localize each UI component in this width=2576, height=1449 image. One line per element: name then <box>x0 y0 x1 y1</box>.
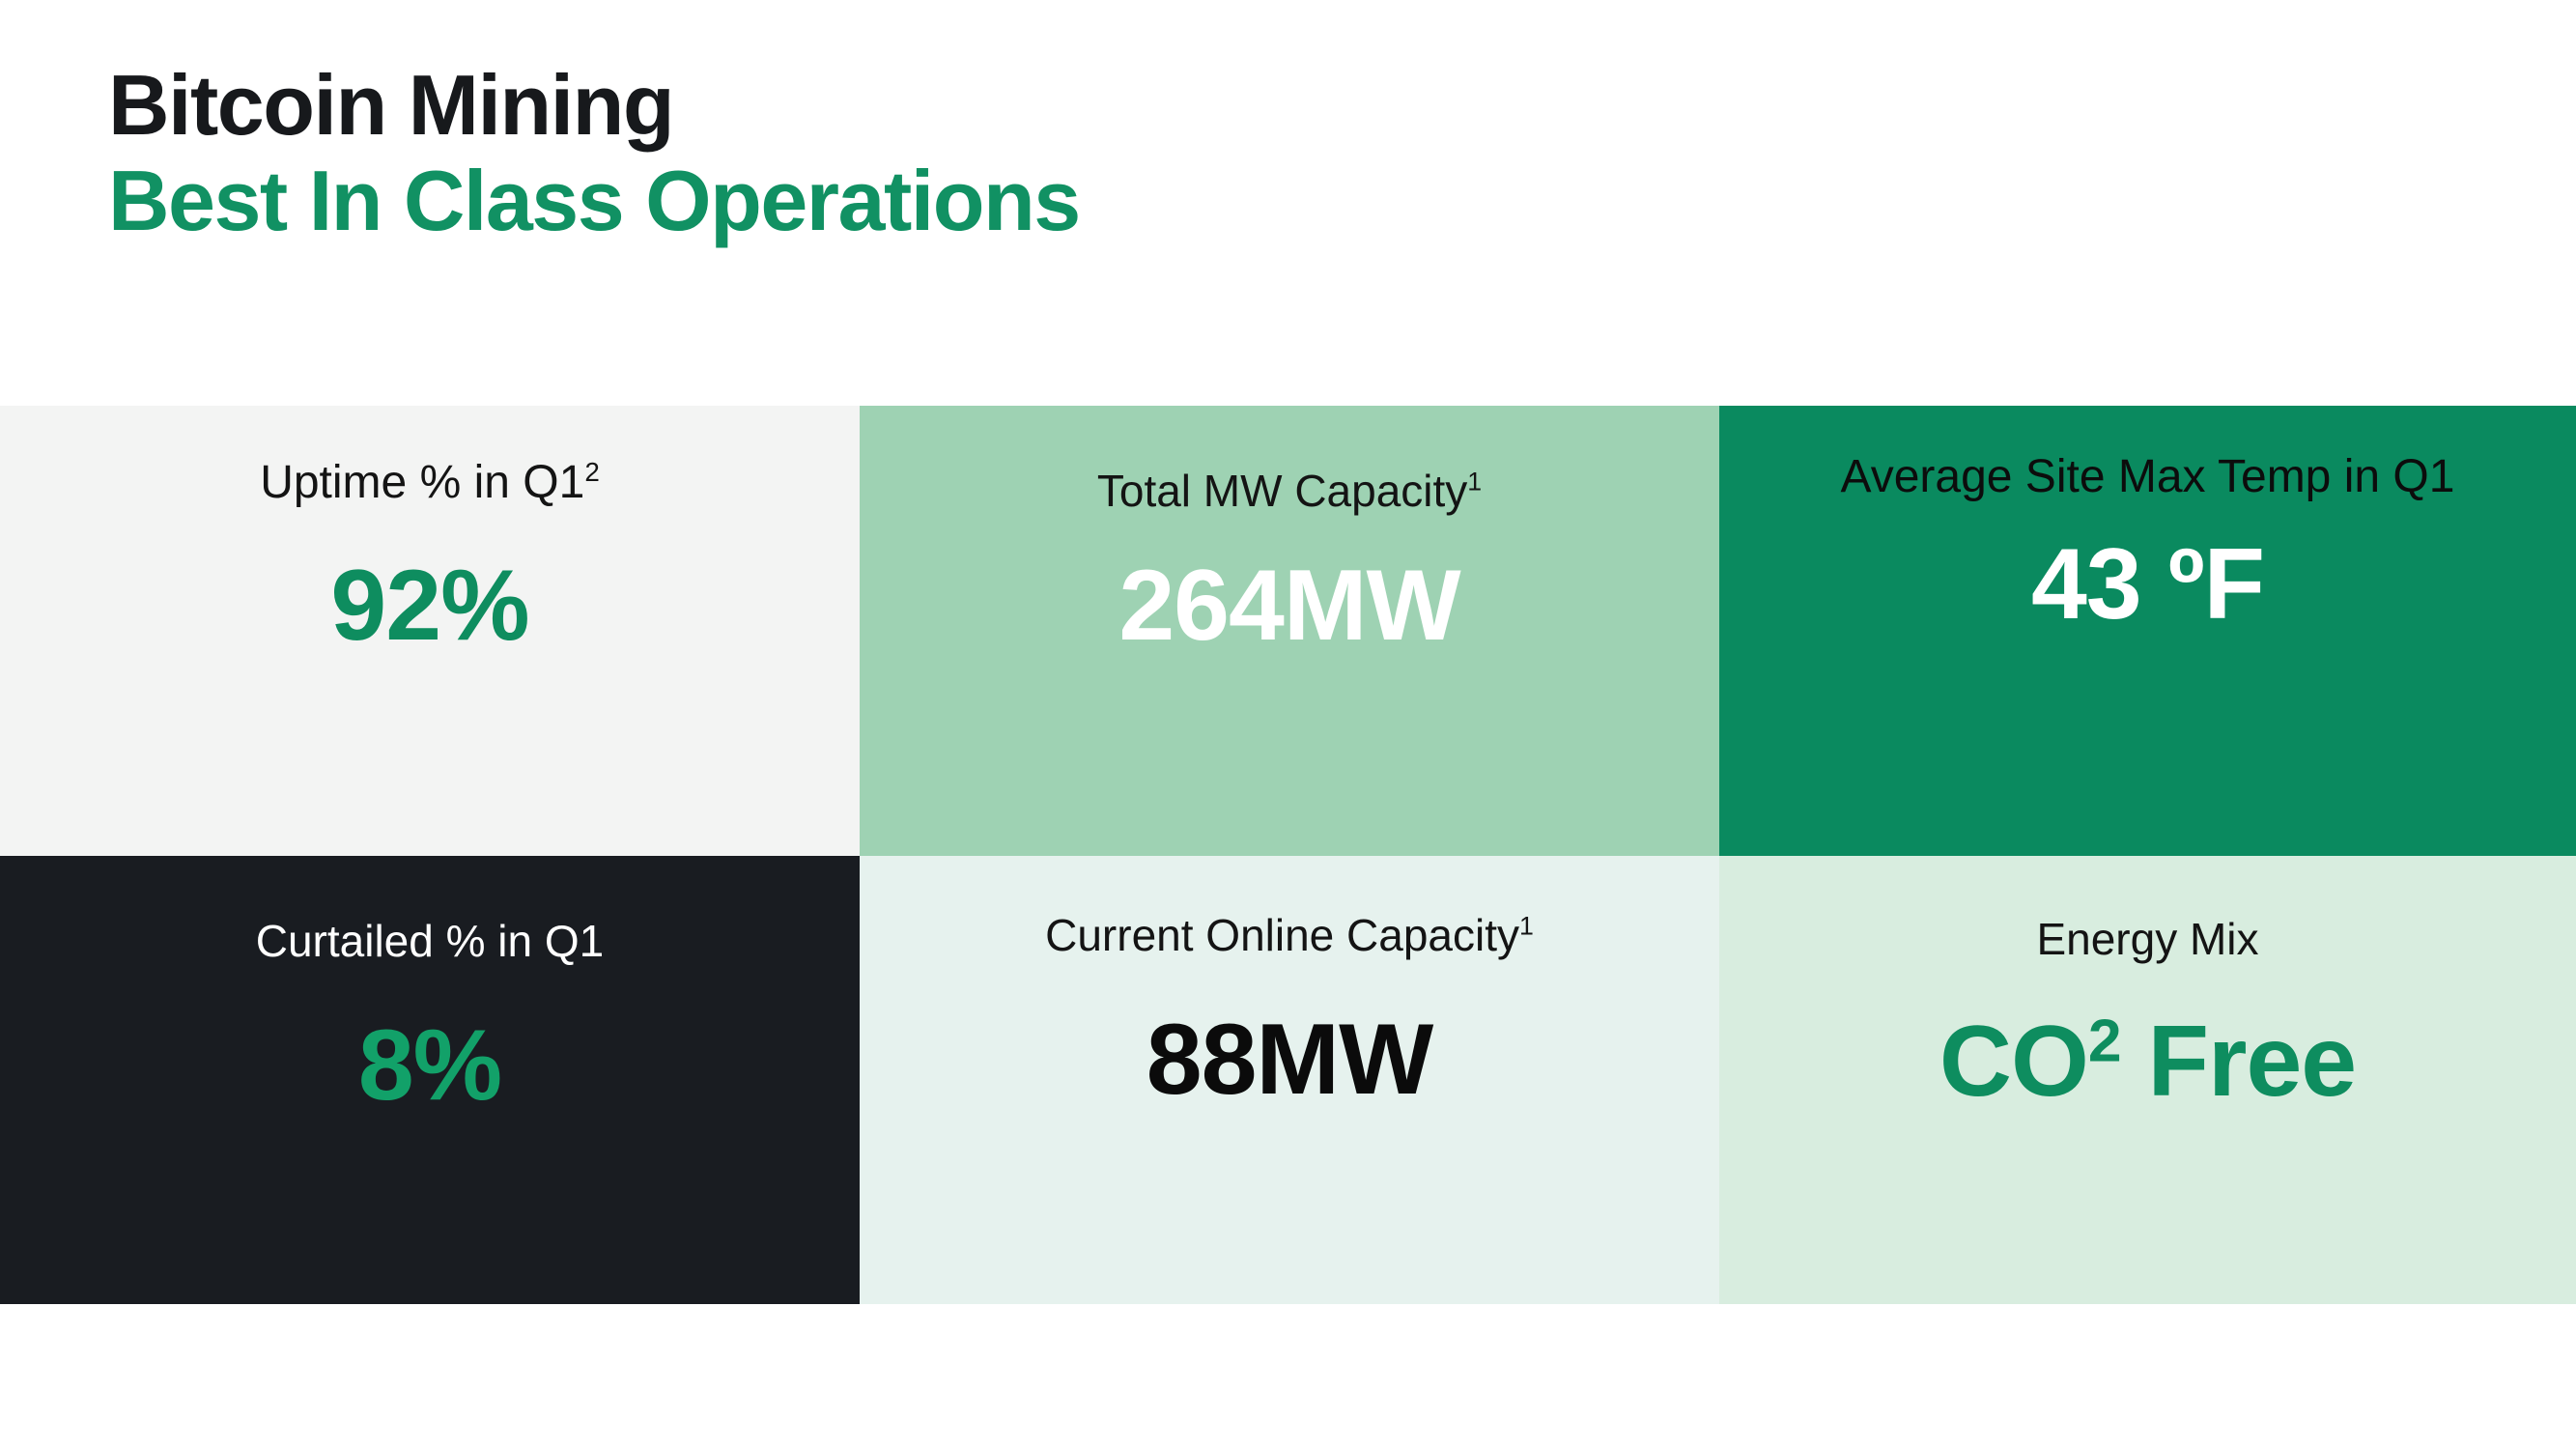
footnote-marker-1: 1 <box>1519 912 1534 941</box>
kpi-card-total-mw-capacity: Total MW Capacity1 264MW <box>860 406 1719 856</box>
footnote-marker-1: 1 <box>1467 468 1482 497</box>
kpi-value-uptime: 92% <box>330 555 528 656</box>
title-line-primary: Bitcoin Mining <box>108 58 2040 154</box>
kpi-card-curtailed: Curtailed % in Q1 8% <box>0 856 860 1304</box>
slide-root: Bitcoin Mining Best In Class Operations … <box>0 0 2576 1449</box>
kpi-value-average-site-max-temp: 43 ºF <box>2031 534 2264 635</box>
kpi-label-curtailed: Curtailed % in Q1 <box>256 916 605 967</box>
kpi-label-current-online-capacity: Current Online Capacity1 <box>1045 910 1534 961</box>
kpi-label-average-site-max-temp: Average Site Max Temp in Q1 <box>1841 450 2455 503</box>
kpi-grid: Uptime % in Q12 92% Total MW Capacity1 2… <box>0 406 2576 1304</box>
kpi-label-energy-mix: Energy Mix <box>2036 914 2258 965</box>
kpi-label-uptime: Uptime % in Q12 <box>260 456 600 509</box>
kpi-card-average-site-max-temp: Average Site Max Temp in Q1 43 ºF <box>1719 406 2576 856</box>
kpi-value-energy-mix: CO2 Free <box>1939 1011 2356 1112</box>
kpi-card-energy-mix: Energy Mix CO2 Free <box>1719 856 2576 1304</box>
kpi-value-total-mw-capacity: 264MW <box>1118 555 1459 656</box>
slide-footer: Mawson 1. At 10 May 2023 based on availa… <box>0 1304 2576 1449</box>
kpi-value-current-online-capacity: 88MW <box>1146 1009 1432 1110</box>
title-line-secondary: Best In Class Operations <box>108 154 2040 249</box>
footnote-marker-2: 2 <box>584 457 599 487</box>
kpi-value-curtailed: 8% <box>358 1015 501 1116</box>
superscript-two: 2 <box>2088 1008 2121 1074</box>
page-title: Bitcoin Mining Best In Class Operations <box>108 58 2040 248</box>
kpi-card-current-online-capacity: Current Online Capacity1 88MW <box>860 856 1719 1304</box>
kpi-card-uptime: Uptime % in Q12 92% <box>0 406 860 856</box>
kpi-label-total-mw-capacity: Total MW Capacity1 <box>1097 466 1482 517</box>
